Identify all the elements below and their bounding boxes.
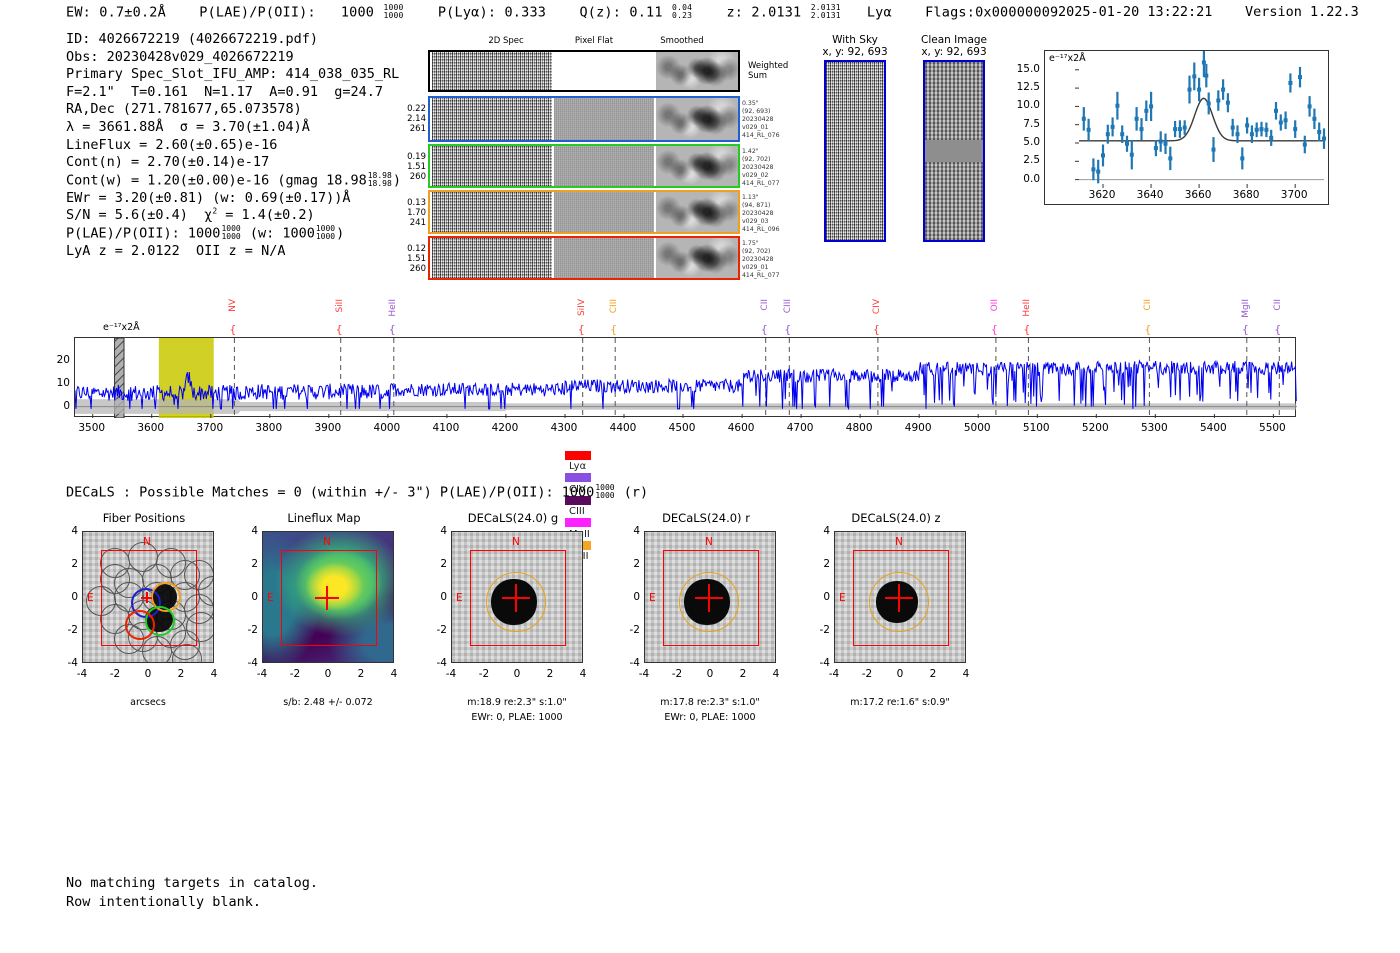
spec2d-row-right-labels: 1.75"(92, 702)20230428v029_01414_RL_077 — [742, 240, 780, 280]
decals-xtick: 4 — [963, 668, 970, 680]
decals-xtick: -2 — [290, 668, 300, 680]
decals-ytick: 0 — [616, 591, 640, 603]
decals-panel-caption: m:17.2 re:1.6" s:0.9" — [800, 697, 1000, 708]
decals-ytick: 0 — [54, 591, 78, 603]
info-ewr: EWr = 3.20(±0.81) (w: 0.69(±0.17))Å — [66, 190, 401, 208]
decals-xtick: 4 — [773, 668, 780, 680]
line-fit-xtick: 3640 — [1137, 189, 1164, 201]
clean-image-coords: x, y: 92, 693 — [905, 46, 1003, 58]
header-summary-line: EW: 0.7±0.2Å P(LAE)/P(OII): 1000 1000100… — [66, 4, 1058, 21]
compass-north: N — [512, 536, 520, 548]
emission-line-brace: { — [784, 323, 791, 336]
header-flags: Flags:0x00000009 — [925, 4, 1058, 20]
header-z-bounds: 2.01312.0131 — [811, 4, 841, 21]
emission-line-brace: { — [873, 323, 880, 336]
info-plae: P(LAE)/P(OII): 100010001000 (w: 10001000… — [66, 225, 401, 243]
footer-line-2: Row intentionally blank. — [66, 893, 318, 912]
decals-ytick: -2 — [234, 624, 258, 636]
emission-line-brace: { — [389, 323, 396, 336]
line-fit-ytick: 12.5 — [1014, 81, 1040, 93]
emission-line-label: HeII — [388, 299, 398, 317]
spec2d-cell — [432, 192, 552, 232]
compass-east: E — [87, 592, 94, 604]
spectrum-xtick: 4900 — [905, 422, 932, 434]
decals-xtick: -4 — [77, 668, 87, 680]
decals-ytick: -4 — [54, 657, 78, 669]
emission-line-label: OII — [990, 299, 1000, 311]
header-qz-bounds: 0.040.23 — [672, 4, 692, 21]
target-crosshair — [515, 584, 517, 612]
decals-ytick: 4 — [423, 525, 447, 537]
target-crosshair — [146, 592, 148, 603]
spectrum-xtick: 4300 — [551, 422, 578, 434]
compass-north: N — [705, 536, 713, 548]
spec2d-cell — [554, 98, 654, 140]
emission-line-brace: { — [1242, 323, 1249, 336]
spectrum-xtick: 4400 — [610, 422, 637, 434]
header-qz: Q(z): 0.11 — [579, 4, 662, 20]
header-timestamp-block: 2025-01-20 13:22:21 Version 1.22.3 — [1058, 4, 1359, 20]
emission-line-label: SiII — [335, 299, 345, 313]
spec2d-cell — [656, 146, 738, 186]
decals-xtick: -4 — [639, 668, 649, 680]
clean-image-image — [923, 60, 985, 242]
spectrum-xtick: 3600 — [137, 422, 164, 434]
decals-ytick: 2 — [423, 558, 447, 570]
decals-xtick: -2 — [862, 668, 872, 680]
decals-xtick: 4 — [391, 668, 398, 680]
spec2d-row: 0.191.512601.42"(92, 702)20230428v029_02… — [428, 144, 740, 188]
info-wavelength: λ = 3661.88Å σ = 3.70(±1.04)Å — [66, 119, 401, 137]
with-sky-image — [824, 60, 886, 242]
line-fit-ytick: 2.5 — [1014, 154, 1040, 166]
spectrum-xtick: 4500 — [669, 422, 696, 434]
emission-line-brace: { — [1144, 323, 1151, 336]
line-fit-xtick: 3620 — [1089, 189, 1116, 201]
line-fit-xtick: 3680 — [1233, 189, 1260, 201]
spec2d-row-right-labels: 1.42"(92, 702)20230428v029_02414_RL_077 — [742, 148, 780, 188]
decals-xtick: 0 — [145, 668, 152, 680]
decals-ytick: -2 — [616, 624, 640, 636]
emission-line-label: CIII — [609, 299, 619, 313]
info-redshifts: LyA z = 2.0122 OII z = N/A — [66, 243, 401, 261]
emission-line-brace: { — [578, 323, 585, 336]
decals-panel-image: NE — [451, 531, 583, 663]
spec2d-row: 0.121.512601.75"(92, 702)20230428v029_01… — [428, 236, 740, 280]
decals-panel-caption-2: EWr: 0, PLAE: 1000 — [417, 712, 617, 723]
line-fit-ytick: 15.0 — [1014, 63, 1040, 75]
decals-heading: DECaLS : Possible Matches = 0 (within +/… — [66, 484, 648, 501]
spectrum-xtick: 3500 — [78, 422, 105, 434]
decals-xtick: 2 — [740, 668, 747, 680]
timestamp: 2025-01-20 13:22:21 — [1058, 4, 1212, 20]
info-cont-n: Cont(n) = 2.70(±0.14)e-17 — [66, 154, 401, 172]
decals-ytick: -2 — [54, 624, 78, 636]
header-plae-label: P(LAE)/P(OII): — [199, 4, 316, 20]
spec2d-cell — [432, 98, 552, 140]
info-obs: Obs: 20230428v029_4026672219 — [66, 49, 401, 67]
spec2d-cell — [432, 146, 552, 186]
footer-note: No matching targets in catalog. Row inte… — [66, 874, 318, 912]
spec2d-row: 0.222.142610.35"(92, 693)20230428v029_01… — [428, 96, 740, 142]
decals-xtick: -4 — [257, 668, 267, 680]
decals-xtick: -2 — [672, 668, 682, 680]
decals-xtick: -2 — [479, 668, 489, 680]
detection-info-block: ID: 4026672219 (4026672219.pdf) Obs: 202… — [66, 31, 401, 261]
spectrum-unit-label: e⁻¹⁷x2Å — [101, 322, 142, 333]
decals-ytick: 4 — [616, 525, 640, 537]
spec2d-cell — [656, 98, 738, 140]
legend-swatch — [565, 451, 591, 460]
decals-ytick: 2 — [806, 558, 830, 570]
target-crosshair — [326, 586, 328, 610]
header-plae-value: 1000 — [341, 4, 374, 20]
spec2d-row: 0.131.702411.13"(94, 871)20230428v029_03… — [428, 190, 740, 234]
emission-line-label: SiIV — [577, 299, 587, 316]
spec2d-row — [428, 50, 740, 92]
info-seeing: F=2.1" T=0.161 N=1.17 A=0.91 g=24.7 — [66, 84, 401, 102]
emission-line-brace: { — [229, 323, 236, 336]
decals-ytick: 0 — [234, 591, 258, 603]
decals-panel-caption: s/b: 2.48 +/- 0.072 — [228, 697, 428, 708]
spec2d-row-left-labels: 0.121.51260 — [407, 244, 426, 274]
spectrum-xtick: 3700 — [196, 422, 223, 434]
decals-ytick: 4 — [234, 525, 258, 537]
decals-panel-title: DECaLS(24.0) z — [816, 511, 976, 525]
line-fit-ytick: 0.0 — [1014, 173, 1040, 185]
spec2d-cell — [656, 52, 738, 90]
decals-ytick: -4 — [616, 657, 640, 669]
emission-line-label: CII — [1273, 299, 1283, 311]
footer-line-1: No matching targets in catalog. — [66, 874, 318, 893]
spec2d-row-left-labels: 0.191.51260 — [407, 152, 426, 182]
compass-east: E — [267, 592, 274, 604]
decals-ytick: 4 — [806, 525, 830, 537]
emission-line-brace: { — [1274, 323, 1281, 336]
spec2d-cell — [554, 238, 654, 278]
decals-panel-caption: m:18.9 re:2.3" s:1.0" — [417, 697, 617, 708]
decals-panel-caption: m:17.8 re:2.3" s:1.0" — [610, 697, 810, 708]
spectrum-xtick: 5100 — [1023, 422, 1050, 434]
clean-image-title: Clean Image — [905, 34, 1003, 46]
compass-north: N — [895, 536, 903, 548]
spec2d-col-title-2dspec: 2D Spec — [464, 36, 548, 46]
spec2d-row-left-labels: 0.222.14261 — [407, 104, 426, 134]
decals-ytick: 4 — [54, 525, 78, 537]
compass-north: N — [143, 536, 151, 548]
emission-line-label: NV — [228, 299, 238, 312]
emission-line-brace: { — [336, 323, 343, 336]
spectrum-xtick: 3800 — [255, 422, 282, 434]
spectrum-xtick: 4800 — [846, 422, 873, 434]
emission-line-label: CIV — [872, 299, 882, 314]
emission-line-brace: { — [761, 323, 768, 336]
spec2d-cell — [656, 192, 738, 232]
decals-ytick: 2 — [54, 558, 78, 570]
line-fit-ytick: 10.0 — [1014, 99, 1040, 111]
emission-line-brace: { — [610, 323, 617, 336]
spectrum-ytick: 10 — [46, 377, 70, 389]
emission-line-label: CIII — [783, 299, 793, 313]
decals-xtick: 4 — [211, 668, 218, 680]
decals-ytick: 2 — [234, 558, 258, 570]
spectrum-xtick: 4100 — [433, 422, 460, 434]
spectrum-xtick: 5400 — [1200, 422, 1227, 434]
spectrum-xtick: 4700 — [787, 422, 814, 434]
spec2d-cell — [432, 52, 552, 90]
spec2d-row-left-labels: 0.131.70241 — [407, 198, 426, 228]
decals-panel-title: DECaLS(24.0) r — [626, 511, 786, 525]
decals-xtick: 2 — [547, 668, 554, 680]
decals-panel-title: DECaLS(24.0) g — [433, 511, 593, 525]
decals-ytick: 2 — [616, 558, 640, 570]
decals-panel-image: NE — [262, 531, 394, 663]
spec2d-row-right-labels: 1.13"(94, 871)20230428v029_03414_RL_096 — [742, 194, 780, 234]
weighted-sum-label: Weighted Sum — [748, 61, 788, 81]
decals-ytick: -2 — [806, 624, 830, 636]
line-fit-axes: e⁻¹⁷x2Å — [1044, 50, 1329, 205]
spec2d-montage: 2D Spec Pixel Flat Smoothed 0.222.142610… — [428, 36, 788, 251]
decals-ytick: -2 — [423, 624, 447, 636]
emission-line-label: CII — [1143, 299, 1153, 311]
decals-ytick: 0 — [806, 591, 830, 603]
spectrum-xtick: 4600 — [728, 422, 755, 434]
decals-xtick: -4 — [829, 668, 839, 680]
decals-ytick: -4 — [806, 657, 830, 669]
spec2d-cell — [432, 238, 552, 278]
with-sky-title: With Sky — [810, 34, 900, 46]
decals-ytick: -4 — [423, 657, 447, 669]
emission-line-label: HeII — [1022, 299, 1032, 317]
target-crosshair — [898, 584, 900, 612]
spectrum-xtick: 5500 — [1259, 422, 1286, 434]
with-sky-coords: x, y: 92, 693 — [810, 46, 900, 58]
header-z: z: 2.0131 — [726, 4, 801, 20]
decals-ytick: 0 — [423, 591, 447, 603]
header-plya: P(Lyα): 0.333 — [438, 4, 546, 20]
decals-xtick: -2 — [110, 668, 120, 680]
info-lineflux: LineFlux = 2.60(±0.65)e-16 — [66, 137, 401, 155]
compass-east: E — [649, 592, 656, 604]
decals-xtick: 4 — [580, 668, 587, 680]
line-fit-ytick: 7.5 — [1014, 118, 1040, 130]
spec2d-cell — [554, 146, 654, 186]
spectrum-xtick: 3900 — [314, 422, 341, 434]
spec2d-col-title-smoothed: Smoothed — [640, 36, 724, 46]
decals-heading-text: DECaLS : Possible Matches = 0 (within +/… — [66, 484, 594, 500]
emission-line-brace: { — [1023, 323, 1030, 336]
spectrum-xtick: 5200 — [1082, 422, 1109, 434]
emission-line-brace: { — [991, 323, 998, 336]
header-plae-bounds: 10001000 — [383, 4, 403, 21]
decals-xtick: -4 — [446, 668, 456, 680]
compass-north: N — [323, 536, 331, 548]
spectrum-xtick: 5300 — [1141, 422, 1168, 434]
spec2d-cell — [656, 238, 738, 278]
emission-line-label: MgII — [1241, 299, 1251, 318]
spec2d-cell — [554, 192, 654, 232]
spec2d-row-right-labels: 0.35"(92, 693)20230428v029_01414_RL_076 — [742, 100, 780, 140]
spec2d-col-title-pixelflat: Pixel Flat — [552, 36, 636, 46]
spectrum-xtick: 5000 — [964, 422, 991, 434]
decals-xtick: 0 — [707, 668, 714, 680]
decals-xtick: 0 — [897, 668, 904, 680]
spectrum-ytick: 20 — [46, 354, 70, 366]
compass-east: E — [839, 592, 846, 604]
decals-panel-image: NE — [644, 531, 776, 663]
decals-xtick: 2 — [358, 668, 365, 680]
decals-panel-image: NE — [82, 531, 214, 663]
decals-panel-caption: arcsecs — [48, 697, 248, 708]
emission-line-label: CII — [760, 299, 770, 311]
decals-panel-caption-2: EWr: 0, PLAE: 1000 — [610, 712, 810, 723]
compass-east: E — [456, 592, 463, 604]
decals-xtick: 2 — [178, 668, 185, 680]
info-cont-w: Cont(w) = 1.20(±0.00)e-16 (gmag 18.9818.… — [66, 172, 401, 190]
spectrum-xtick: 4000 — [374, 422, 401, 434]
decals-panel-title: Lineflux Map — [244, 511, 404, 525]
target-crosshair — [708, 584, 710, 612]
line-fit-ytick: 5.0 — [1014, 136, 1040, 148]
version-label: Version 1.22.3 — [1245, 4, 1359, 20]
spectrum-xtick: 4200 — [492, 422, 519, 434]
info-id: ID: 4026672219 (4026672219.pdf) — [66, 31, 401, 49]
decals-xtick: 0 — [325, 668, 332, 680]
full-spectrum-axes: e⁻¹⁷x2Å — [74, 337, 1296, 417]
info-primary-spec: Primary Spec_Slot_IFU_AMP: 414_038_035_R… — [66, 66, 401, 84]
header-lya: Lyα — [867, 4, 892, 20]
spec2d-cell — [554, 52, 654, 90]
spectrum-ytick: 0 — [46, 400, 70, 412]
legend-label: Lyα — [569, 461, 586, 472]
decals-xtick: 0 — [514, 668, 521, 680]
decals-ytick: -4 — [234, 657, 258, 669]
info-sn-chi2: S/N = 5.6(±0.4) χ2 = 1.4(±0.2) — [66, 207, 401, 225]
line-fit-xtick: 3660 — [1185, 189, 1212, 201]
line-fit-xtick: 3700 — [1281, 189, 1308, 201]
decals-panel-title: Fiber Positions — [64, 511, 224, 525]
decals-panel-image: NE — [834, 531, 966, 663]
legend-swatch — [565, 473, 591, 482]
decals-xtick: 2 — [930, 668, 937, 680]
header-ew: EW: 0.7±0.2Å — [66, 4, 166, 20]
info-radec: RA,Dec (271.781677,65.073578) — [66, 101, 401, 119]
